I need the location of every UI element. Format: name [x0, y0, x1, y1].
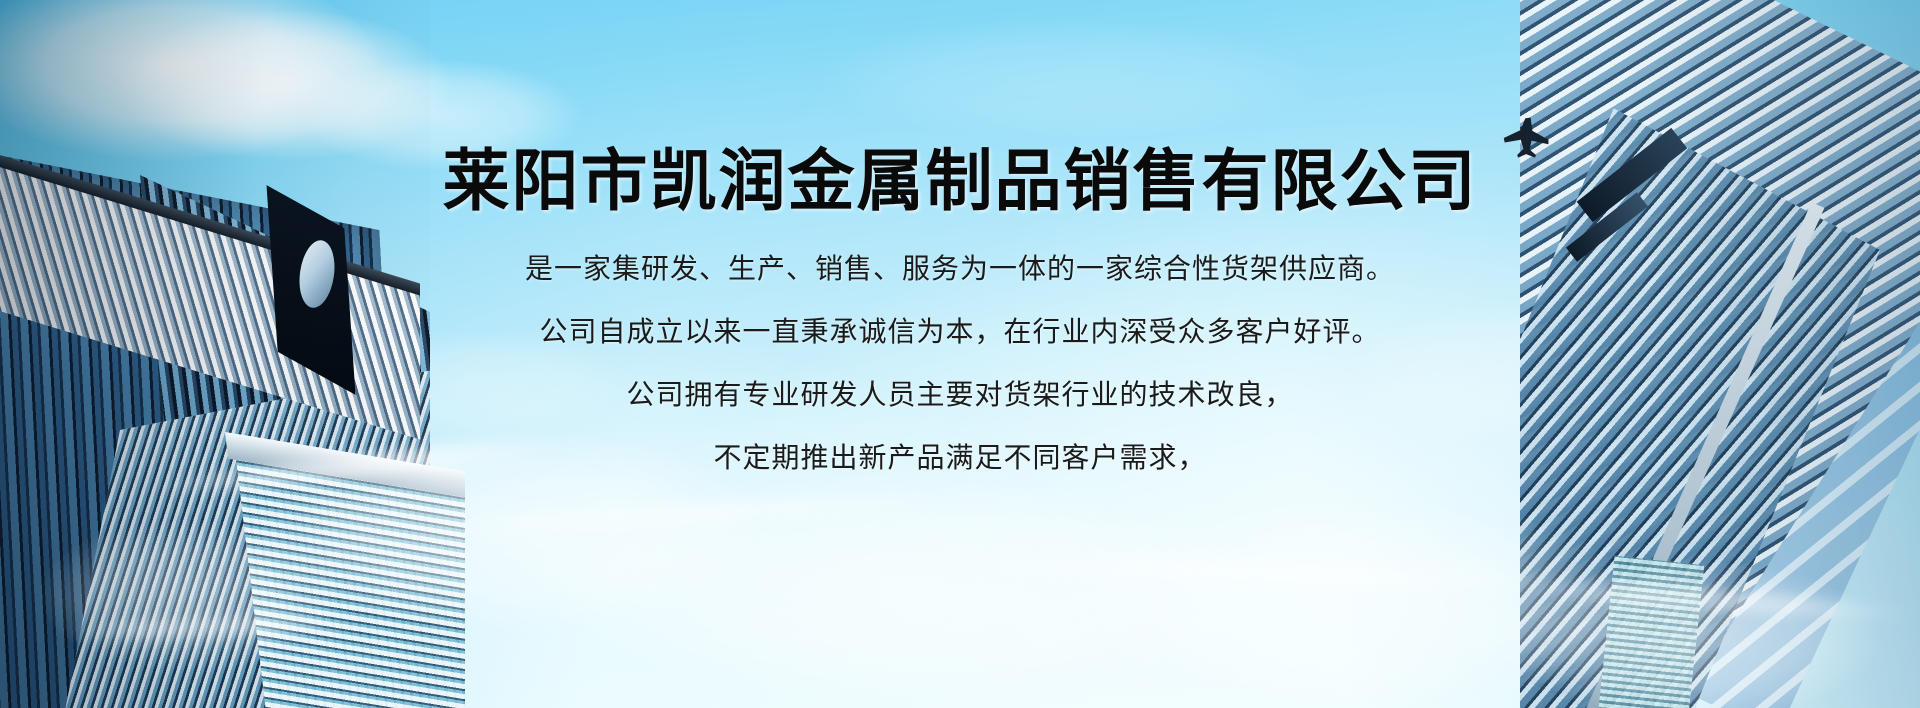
airplane-icon — [1498, 113, 1556, 163]
company-hero-banner: 莱阳市凯润金属制品销售有限公司 是一家集研发、生产、销售、服务为一体的一家综合性… — [0, 0, 1920, 708]
